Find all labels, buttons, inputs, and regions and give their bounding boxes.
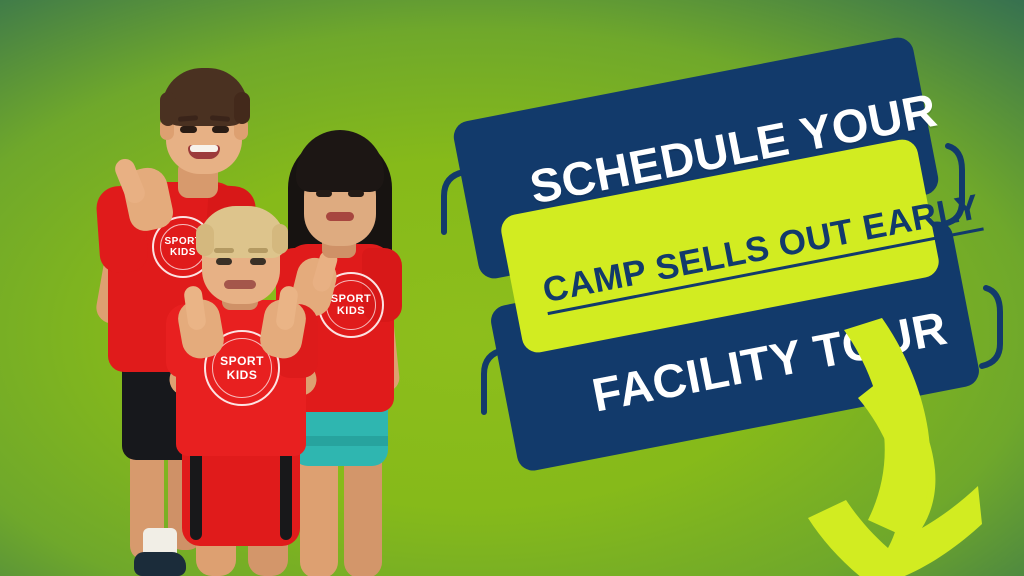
girl-bangs	[300, 158, 380, 184]
badge-text: SPORT KIDS	[206, 354, 278, 382]
boy-b-brow-left	[214, 248, 234, 253]
girl-shorts-hem	[292, 436, 388, 446]
kids-photo: SPORT KIDS SPORT KIDS	[0, 0, 440, 576]
girl-eye-right	[348, 190, 364, 197]
boy-b-mouth	[224, 280, 256, 289]
boy-b-sideburn-right	[272, 224, 288, 254]
boy-a-shoe	[134, 552, 186, 576]
boy-b-brow-right	[248, 248, 268, 253]
boy-b-eye-left	[216, 258, 232, 265]
boy-a-teeth	[190, 145, 218, 152]
boy-b-sideburn-left	[196, 224, 214, 256]
boy-a-eye-right	[212, 126, 229, 133]
bracket-bottom-right	[982, 288, 1000, 366]
girl-mouth	[326, 212, 354, 221]
promo-poster: SPORT KIDS SPORT KIDS	[0, 0, 1024, 576]
boy-a-sideburn-right	[234, 92, 250, 124]
boy-a-eye-left	[180, 126, 197, 133]
girl-eye-left	[316, 190, 332, 197]
boy-a-sideburn-left	[160, 92, 176, 126]
boy-b-eye-right	[250, 258, 266, 265]
